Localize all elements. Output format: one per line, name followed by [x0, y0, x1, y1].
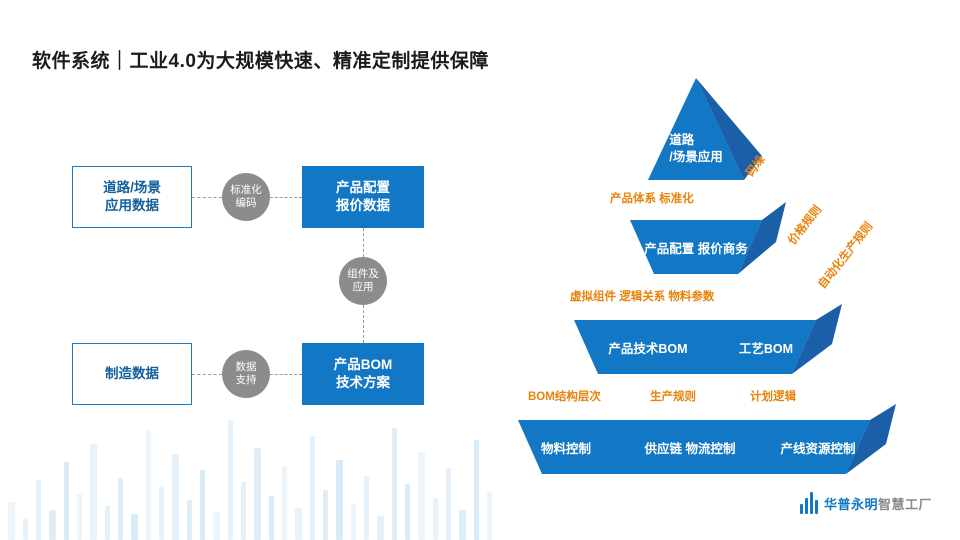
- pyramid-level-4-label-a: 物料控制: [516, 436, 616, 458]
- decorative-bar: [49, 510, 56, 540]
- slide-canvas: 软件系统｜工业4.0为大规模快速、精准定制提供保障 道路/场景应用数据 标准化编…: [0, 0, 960, 540]
- flow-node-label: 产品配置报价数据: [336, 179, 390, 215]
- decorative-bar: [269, 496, 274, 540]
- decorative-bar: [187, 500, 192, 540]
- decorative-bar: [90, 444, 97, 540]
- flow-connector-line-3b: [270, 374, 302, 375]
- decorative-bar: [118, 478, 123, 540]
- decorative-bar: [213, 512, 220, 540]
- pyramid-level-3-sub-b: 生产规则: [650, 388, 696, 404]
- flow-node-label: 产品BOM技术方案: [334, 356, 393, 392]
- flow-connector-data-support[interactable]: 数据支持: [222, 350, 270, 398]
- decorative-bar: [433, 498, 438, 540]
- title-bar: 软件系统｜工业4.0为大规模快速、精准定制提供保障: [0, 22, 960, 60]
- flow-connector-line-2a: [363, 228, 364, 257]
- decorative-bar: [146, 430, 151, 540]
- page-title: 软件系统｜工业4.0为大规模快速、精准定制提供保障: [32, 46, 489, 73]
- decorative-bar: [64, 462, 69, 540]
- flow-connector-line-1a: [192, 197, 222, 198]
- decorative-bar: [241, 482, 246, 540]
- decorative-bar: [77, 494, 82, 540]
- decorative-bar: [200, 470, 205, 540]
- flow-connector-label: 组件及应用: [347, 268, 379, 294]
- decorative-bar: [487, 492, 492, 540]
- decorative-bar: [405, 484, 410, 540]
- pyramid-level-3-label-b: 工艺BOM: [726, 336, 806, 358]
- decorative-bar: [310, 436, 315, 540]
- decorative-bar: [228, 420, 233, 540]
- decorative-bar: [254, 448, 261, 540]
- flow-node-road-scene-data[interactable]: 道路/场景应用数据: [72, 166, 192, 228]
- flow-connector-line-3a: [192, 374, 222, 375]
- decorative-bar: [8, 502, 15, 540]
- decorative-bar: [392, 428, 397, 540]
- flow-connector-line-1b: [270, 197, 302, 198]
- decorative-bar: [105, 506, 110, 540]
- flow-connector-label: 标准化编码: [230, 184, 262, 210]
- decorative-bar: [36, 480, 41, 540]
- flow-node-manufacturing-data[interactable]: 制造数据: [72, 343, 192, 405]
- decorative-bar: [351, 504, 356, 540]
- decorative-bar: [446, 468, 451, 540]
- flow-connector-component-application[interactable]: 组件及应用: [339, 257, 387, 305]
- flow-connector-label: 数据支持: [236, 361, 257, 387]
- pyramid-level-3-sub-c: 计划逻辑: [750, 388, 796, 404]
- flow-node-product-bom-tech-plan[interactable]: 产品BOM技术方案: [302, 343, 424, 405]
- flow-connector-line-2b: [363, 305, 364, 343]
- logo-mark-icon: [800, 492, 818, 514]
- pyramid-level-4-label-c: 产线资源控制: [758, 436, 878, 458]
- pyramid-level-3-sub-a: BOM结构层次: [528, 388, 601, 404]
- decorative-bar: [159, 486, 164, 540]
- pyramid-level-4-label-b: 供应链 物流控制: [620, 436, 760, 458]
- decorative-bar: [295, 508, 302, 540]
- flow-node-label: 制造数据: [105, 365, 159, 383]
- decorative-bar: [459, 510, 466, 540]
- decorative-bar: [323, 490, 328, 540]
- decorative-bar: [282, 466, 287, 540]
- decorative-bar: [364, 476, 369, 540]
- logo-text: 华普永明智慧工厂: [824, 494, 932, 513]
- pyramid-level-2-label: 产品配置 报价商务: [636, 236, 756, 258]
- decorative-bars: [0, 390, 520, 540]
- decorative-bar: [131, 514, 138, 540]
- company-logo: 华普永明智慧工厂: [800, 492, 932, 514]
- decorative-bar: [336, 460, 343, 540]
- decorative-bar: [172, 454, 179, 540]
- pyramid-level-2-sub: 虚拟组件 逻辑关系 物料参数: [570, 288, 714, 304]
- flow-connector-standard-encoding[interactable]: 标准化编码: [222, 173, 270, 221]
- pyramid-level-1-sub: 产品体系 标准化: [610, 190, 694, 206]
- decorative-bar: [377, 516, 384, 540]
- pyramid-diagram: 道路/场景应用 产品体系 标准化 产品配置 报价商务 虚拟组件 逻辑关系 物料参…: [470, 70, 940, 490]
- flow-node-product-config-quote-data[interactable]: 产品配置报价数据: [302, 166, 424, 228]
- pyramid-level-3-label-a: 产品技术BOM: [578, 336, 718, 358]
- decorative-bar: [23, 518, 28, 540]
- decorative-bar: [418, 452, 425, 540]
- pyramid-level-1-label: 道路/场景应用: [656, 126, 736, 172]
- flow-node-label: 道路/场景应用数据: [103, 179, 161, 215]
- logo-suffix: 智慧工厂: [878, 497, 932, 512]
- logo-brand: 华普永明: [824, 497, 878, 512]
